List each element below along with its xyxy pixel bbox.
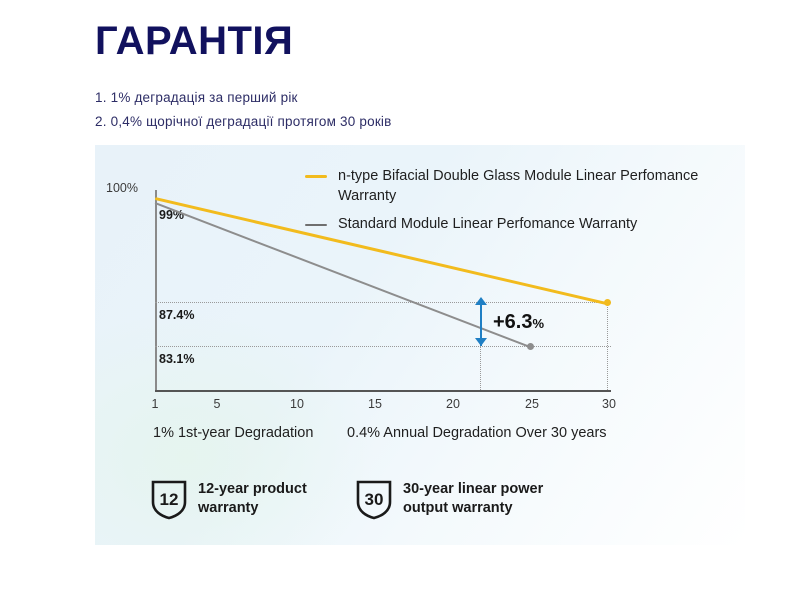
chart-panel: 100% 99% 87.4% 83.1% 1 5 10 15 20 25 30 … <box>95 145 745 545</box>
chart-plot-area: 100% 99% 87.4% 83.1% 1 5 10 15 20 25 30 … <box>95 145 745 545</box>
gridline-x-30 <box>607 302 608 390</box>
slide-root: ГАРАНТІЯ 1. 1% деградація за перший рік … <box>0 0 800 600</box>
gridline-87-4 <box>155 302 611 303</box>
chart-legend: n-type Bifacial Double Glass Module Line… <box>305 167 725 244</box>
page-title: ГАРАНТІЯ <box>95 20 293 62</box>
badge-product-warranty-text: 12-year product warranty <box>198 480 307 518</box>
delta-annotation-label: +6.3% <box>493 311 544 334</box>
badge-product-warranty: 12 12-year product warranty <box>150 478 307 520</box>
x-tick-label-10: 10 <box>290 397 304 411</box>
svg-text:30: 30 <box>365 490 384 509</box>
badge-product-line1: 12-year product <box>198 480 307 499</box>
legend-swatch-ntype-icon <box>305 175 327 178</box>
delta-arrow-down-icon <box>475 338 487 346</box>
y-tick-label-87-4: 87.4% <box>159 308 194 322</box>
series-endpoint-ntype <box>604 299 611 306</box>
x-tick-label-1: 1 <box>152 397 159 411</box>
legend-swatch-standard-icon <box>305 224 327 226</box>
legend-label-ntype: n-type Bifacial Double Glass Module Line… <box>338 167 725 206</box>
y-tick-label-100: 100% <box>106 181 138 195</box>
series-endpoint-standard <box>527 343 534 350</box>
x-axis-line <box>155 390 611 392</box>
legend-item-standard: Standard Module Linear Perfomance Warran… <box>305 215 725 235</box>
badge-output-warranty: 30 30-year linear power output warranty <box>355 478 543 520</box>
gridline-83-1 <box>155 346 611 347</box>
y-tick-label-83-1: 83.1% <box>159 352 194 366</box>
legend-label-standard: Standard Module Linear Perfomance Warran… <box>338 215 637 235</box>
shield-12-icon: 12 <box>150 478 188 520</box>
caption-first-year-degradation: 1% 1st-year Degradation <box>153 425 313 441</box>
delta-unit: % <box>532 316 544 331</box>
shield-30-icon: 30 <box>355 478 393 520</box>
x-tick-label-15: 15 <box>368 397 382 411</box>
legend-item-ntype: n-type Bifacial Double Glass Module Line… <box>305 167 725 206</box>
y-axis-line <box>155 190 157 392</box>
badge-output-warranty-text: 30-year linear power output warranty <box>403 480 543 518</box>
caption-annual-degradation: 0.4% Annual Degradation Over 30 years <box>347 425 607 441</box>
x-tick-label-20: 20 <box>446 397 460 411</box>
badge-output-line2: output warranty <box>403 499 543 518</box>
x-tick-label-5: 5 <box>214 397 221 411</box>
badge-product-line2: warranty <box>198 499 307 518</box>
note-item-2: 2. 0,4% щорічної деградації протягом 30 … <box>95 114 392 129</box>
delta-arrow-up-icon <box>475 297 487 305</box>
svg-text:12: 12 <box>160 490 179 509</box>
x-tick-label-30: 30 <box>602 397 616 411</box>
badge-output-line1: 30-year linear power <box>403 480 543 499</box>
note-item-1: 1. 1% деградація за перший рік <box>95 90 298 105</box>
x-tick-label-25: 25 <box>525 397 539 411</box>
delta-value: +6.3 <box>493 311 532 333</box>
